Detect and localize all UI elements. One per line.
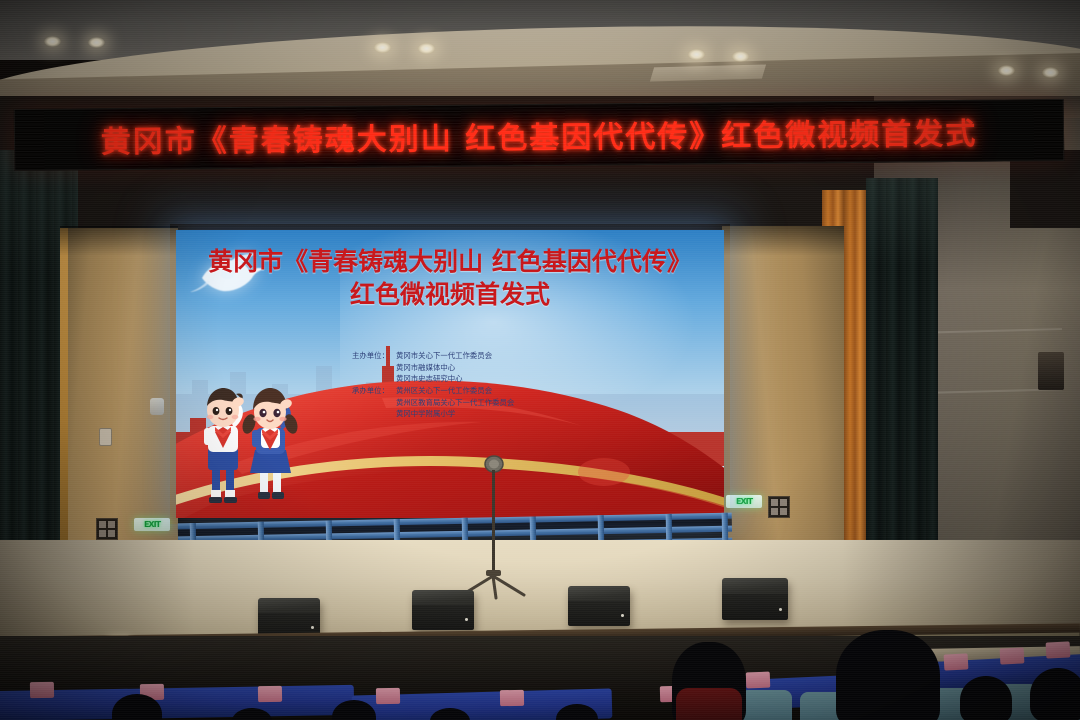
led-banner-text: 黄冈市《青春铸魂大别山 红色基因代代传》红色微视频首发式 — [101, 109, 978, 161]
stage-wall-panel-left-edge — [60, 228, 68, 548]
ceiling-downlight — [374, 42, 391, 53]
stage-monitor-speaker — [412, 590, 474, 630]
panel-top-shadow — [60, 226, 178, 256]
speaker-led — [779, 608, 782, 611]
microphone-stand — [452, 452, 552, 600]
auditorium-stage-photo: 黄冈市《青春铸魂大别山 红色基因代代传》红色微视频首发式 EXIT EXIT — [0, 0, 1080, 720]
stage-curtain-right — [866, 178, 938, 578]
organizer-row: 主办单位： 黄冈市关心下一代工作委员会 黄冈市融媒体中心 黄冈市史志研究中心 — [352, 350, 632, 385]
speaker-led — [311, 626, 314, 629]
wall-outlet — [99, 428, 112, 446]
organizer-values: 黄冈市关心下一代工作委员会 黄冈市融媒体中心 黄冈市史志研究中心 — [396, 350, 632, 385]
exit-icon: EXIT — [144, 520, 160, 529]
speaker-led — [465, 618, 468, 621]
stage-wall-panel-left — [60, 228, 178, 548]
seat-headrest-cover — [1000, 647, 1025, 664]
screen-title-line-2: 红色微视频首发式 — [176, 277, 724, 312]
organizer-value: 黄州区关心下一代工作委员会 — [396, 385, 632, 397]
seat-headrest-cover — [258, 686, 282, 702]
ceiling-downlight — [1042, 67, 1059, 78]
seat-headrest-cover — [376, 688, 400, 704]
right-wall-dark-recess — [1010, 150, 1080, 228]
led-banner: 黄冈市《青春铸魂大别山 红色基因代代传》红色微视频首发式 — [14, 99, 1065, 171]
organizer-value: 黄冈中学附属小学 — [396, 408, 632, 420]
organizer-value: 黄冈市关心下一代工作委员会 — [396, 350, 632, 362]
audience-person-red-jacket — [676, 688, 742, 720]
audience-person — [836, 630, 940, 720]
ceiling-downlight — [688, 49, 705, 60]
panel-top-shadow — [722, 226, 844, 256]
organizer-values: 黄州区关心下一代工作委员会 黄州区教育局关心下一代工作委员会 黄冈中学附属小学 — [396, 385, 632, 420]
seat-headrest-cover — [1046, 641, 1071, 658]
wall-sconce — [1038, 352, 1064, 390]
main-led-screen: 黄冈市《青春铸魂大别山 红色基因代代传》 红色微视频首发式 主办单位： 黄冈市关… — [176, 230, 724, 518]
organizer-label: 主办单位： — [352, 350, 396, 385]
organizer-value: 黄州区教育局关心下一代工作委员会 — [396, 397, 632, 409]
exit-icon: EXIT — [736, 497, 752, 506]
saluting-children-illustration — [190, 370, 320, 506]
organizer-value: 黄冈市史志研究中心 — [396, 373, 632, 385]
screen-title-block: 黄冈市《青春铸魂大别山 红色基因代代传》 红色微视频首发式 — [176, 246, 724, 312]
light-switch-plate — [96, 518, 118, 540]
organizer-value: 黄冈市融媒体中心 — [396, 362, 632, 374]
organizer-label: 承办单位： — [352, 385, 396, 420]
speaker-led — [621, 614, 624, 617]
audience-person — [960, 676, 1012, 720]
audience-seat[interactable] — [740, 690, 792, 720]
audience-person — [1030, 668, 1080, 720]
seat-headrest-cover — [500, 690, 524, 706]
seat-headrest-cover — [944, 653, 969, 670]
stage-monitor-speaker — [722, 578, 788, 620]
ceiling-downlight — [418, 43, 435, 54]
seat-headrest-cover — [746, 672, 771, 689]
ceiling-downlight — [44, 36, 61, 47]
stage-monitor-speaker — [568, 586, 630, 626]
ceiling-downlight — [998, 65, 1015, 76]
ceiling-downlight — [88, 37, 105, 48]
exit-sign-left: EXIT — [134, 518, 170, 531]
speaker-grille — [722, 594, 788, 620]
light-switch-plate — [768, 496, 790, 518]
ceiling-downlight — [732, 51, 749, 62]
seat-headrest-cover — [30, 682, 54, 698]
wall-speaker-icon — [150, 398, 164, 415]
screen-title-line-1: 黄冈市《青春铸魂大别山 红色基因代代传》 — [176, 246, 724, 277]
organizer-row: 承办单位： 黄州区关心下一代工作委员会 黄州区教育局关心下一代工作委员会 黄冈中… — [352, 385, 632, 420]
exit-sign-right: EXIT — [726, 495, 762, 508]
organizers-block: 主办单位： 黄冈市关心下一代工作委员会 黄冈市融媒体中心 黄冈市史志研究中心 承… — [352, 350, 632, 420]
